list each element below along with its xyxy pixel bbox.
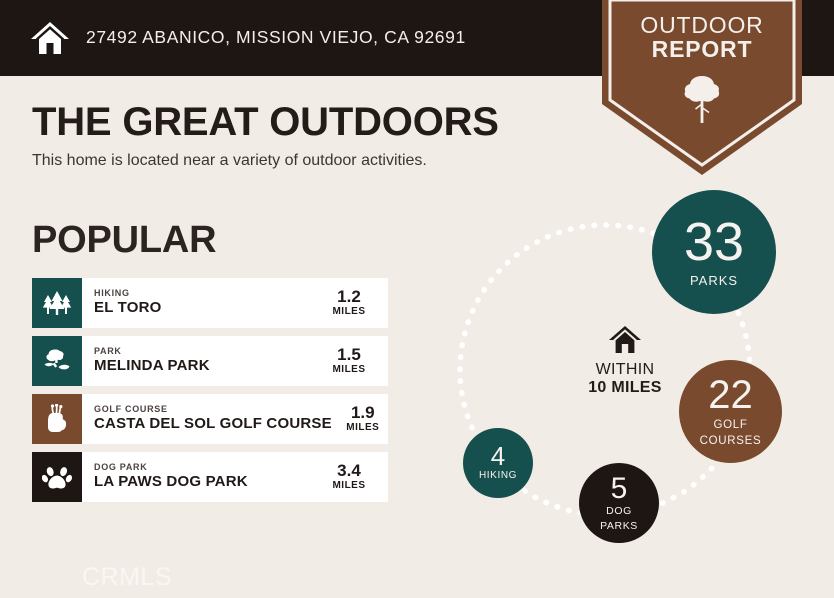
trees-icon (42, 289, 72, 317)
item-distance-unit: MILES (332, 306, 365, 318)
item-category: GOLF COURSE (94, 405, 332, 415)
item-distance: 3.4 MILES (318, 452, 388, 502)
list-item[interactable]: PARK MELINDA PARK 1.5 MILES (32, 336, 388, 386)
item-distance: 1.5 MILES (318, 336, 388, 386)
page-title: THE GREAT OUTDOORS (32, 100, 499, 145)
paw-icon (42, 463, 72, 491)
item-category: DOG PARK (94, 463, 318, 473)
item-name: MELINDA PARK (94, 357, 318, 375)
item-distance-value: 1.9 (351, 404, 375, 422)
item-text: DOG PARK LA PAWS DOG PARK (82, 452, 318, 502)
tree-icon (682, 74, 722, 124)
stat-label-line-1: GOLF (713, 419, 747, 431)
popular-heading: POPULAR (32, 219, 216, 262)
stat-label: PARKS (690, 274, 738, 288)
stat-label-line-2: COURSES (700, 435, 762, 447)
item-name: LA PAWS DOG PARK (94, 473, 318, 491)
badge-line-2: REPORT (602, 38, 802, 62)
stat-count: 5 (611, 474, 628, 503)
watermark: CRMLS (82, 563, 172, 592)
stat-bubble-hiking[interactable]: 4 HIKING (463, 428, 533, 498)
item-distance-value: 1.5 (337, 346, 361, 364)
stat-count: 4 (491, 444, 505, 469)
stat-label: HIKING (479, 471, 517, 482)
item-name: CASTA DEL SOL GOLF COURSE (94, 415, 332, 433)
home-icon (28, 16, 72, 60)
stat-bubble-parks[interactable]: 33 PARKS (652, 190, 776, 314)
page-subtitle: This home is located near a variety of o… (32, 152, 427, 170)
list-item[interactable]: HIKING EL TORO 1.2 MILES (32, 278, 388, 328)
item-text: HIKING EL TORO (82, 278, 318, 328)
stat-label-line-2: PARKS (600, 521, 638, 532)
list-item[interactable]: GOLF COURSE CASTA DEL SOL GOLF COURSE 1.… (32, 394, 388, 444)
item-icon-box (32, 452, 82, 502)
outdoor-report-badge: OUTDOOR REPORT (602, 0, 802, 176)
item-distance-unit: MILES (346, 422, 379, 434)
home-icon (608, 325, 642, 355)
item-distance-value: 1.2 (337, 288, 361, 306)
item-distance-unit: MILES (332, 364, 365, 376)
item-name: EL TORO (94, 299, 318, 317)
stat-bubble-dog-parks[interactable]: 5 DOG PARKS (579, 463, 659, 543)
item-icon-box (32, 278, 82, 328)
item-text: GOLF COURSE CASTA DEL SOL GOLF COURSE (82, 394, 332, 444)
item-icon-box (32, 394, 82, 444)
stat-count: 33 (684, 216, 744, 269)
badge-line-1: OUTDOOR (602, 14, 802, 38)
property-address: 27492 ABANICO, MISSION VIEJO, CA 92691 (86, 27, 466, 48)
park-tree-icon (42, 347, 72, 375)
item-distance: 1.2 MILES (318, 278, 388, 328)
item-distance-value: 3.4 (337, 462, 361, 480)
badge-text: OUTDOOR REPORT (602, 14, 802, 61)
radius-diagram: WITHIN 10 MILES 33 PARKS 22 GOLF COURSES… (430, 180, 820, 575)
popular-list: HIKING EL TORO 1.2 MILES (32, 278, 388, 510)
stat-count: 22 (708, 376, 753, 415)
list-item[interactable]: DOG PARK LA PAWS DOG PARK 3.4 MILES (32, 452, 388, 502)
item-distance-unit: MILES (332, 480, 365, 492)
center-label: WITHIN 10 MILES (545, 325, 705, 398)
item-distance: 1.9 MILES (332, 394, 402, 444)
stat-label-line-1: DOG (606, 506, 632, 517)
outdoor-report-page: 27492 ABANICO, MISSION VIEJO, CA 92691 O… (0, 0, 834, 598)
item-icon-box (32, 336, 82, 386)
item-text: PARK MELINDA PARK (82, 336, 318, 386)
item-category: HIKING (94, 289, 318, 299)
stat-bubble-golf-courses[interactable]: 22 GOLF COURSES (679, 360, 782, 463)
item-category: PARK (94, 347, 318, 357)
golf-bag-icon (43, 404, 71, 434)
center-line-1: WITHIN (545, 361, 705, 379)
